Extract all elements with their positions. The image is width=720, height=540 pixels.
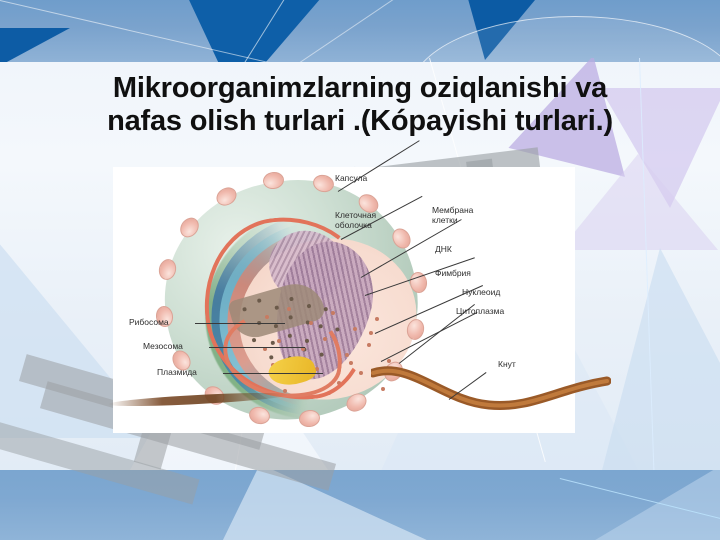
diagram-label-plasmid: Плазмида <box>157 367 197 377</box>
diagram-label-flagellum: Кнут <box>498 359 516 369</box>
presentation-slide: Mikroorganimzlarning oziqlanishi va nafa… <box>0 0 720 540</box>
diagram-label-ribosome: Рибосома <box>129 317 169 327</box>
diagram-label-cytoplasm: Цитоплазма <box>456 306 504 316</box>
background-shape-bottom-2 <box>585 470 720 540</box>
diagram-label-cell-wall: Клеточная оболочка <box>335 210 376 230</box>
diagram-panel: Капсула Клеточная оболочка Мембрана клет… <box>113 167 575 433</box>
diagram-label-nucleoid: Нуклеоид <box>462 287 500 297</box>
diagram-label-mesosome: Мезосома <box>143 341 183 351</box>
diagram-label-cell-membrane-line2: клетки <box>432 215 473 225</box>
background-shape-blue-3 <box>600 248 720 474</box>
leader-line-ribosome <box>195 323 285 324</box>
leader-line-plasmid <box>223 373 323 374</box>
diagram-label-cell-wall-line1: Клеточная <box>335 210 376 220</box>
background-shape-triangle-2 <box>0 28 70 62</box>
background-shape-bottom-1 <box>220 470 440 540</box>
diagram-label-cell-membrane-line1: Мембрана <box>432 205 473 215</box>
background-top-band <box>0 0 720 62</box>
slide-title-line-2: nafas olish turlari .(Kópayishi turlari.… <box>20 105 700 138</box>
diagram-label-cell-wall-line2: оболочка <box>335 220 376 230</box>
diagram-image: Капсула Клеточная оболочка Мембрана клет… <box>113 167 575 433</box>
slide-title-line-1: Mikroorganimzlarning oziqlanishi va <box>20 72 700 105</box>
diagram-label-capsule: Капсула <box>335 173 367 183</box>
diagram-label-fimbria: Фимбрия <box>435 268 471 278</box>
leader-line-mesosome <box>209 347 305 348</box>
slide-title: Mikroorganimzlarning oziqlanishi va nafa… <box>20 72 700 138</box>
background-shape-triangle-1 <box>175 0 345 62</box>
background-bottom-band <box>0 470 720 540</box>
diagram-label-dna: ДНК <box>435 244 452 254</box>
flagellum-icon <box>371 359 611 421</box>
diagram-label-cell-membrane: Мембрана клетки <box>432 205 473 225</box>
